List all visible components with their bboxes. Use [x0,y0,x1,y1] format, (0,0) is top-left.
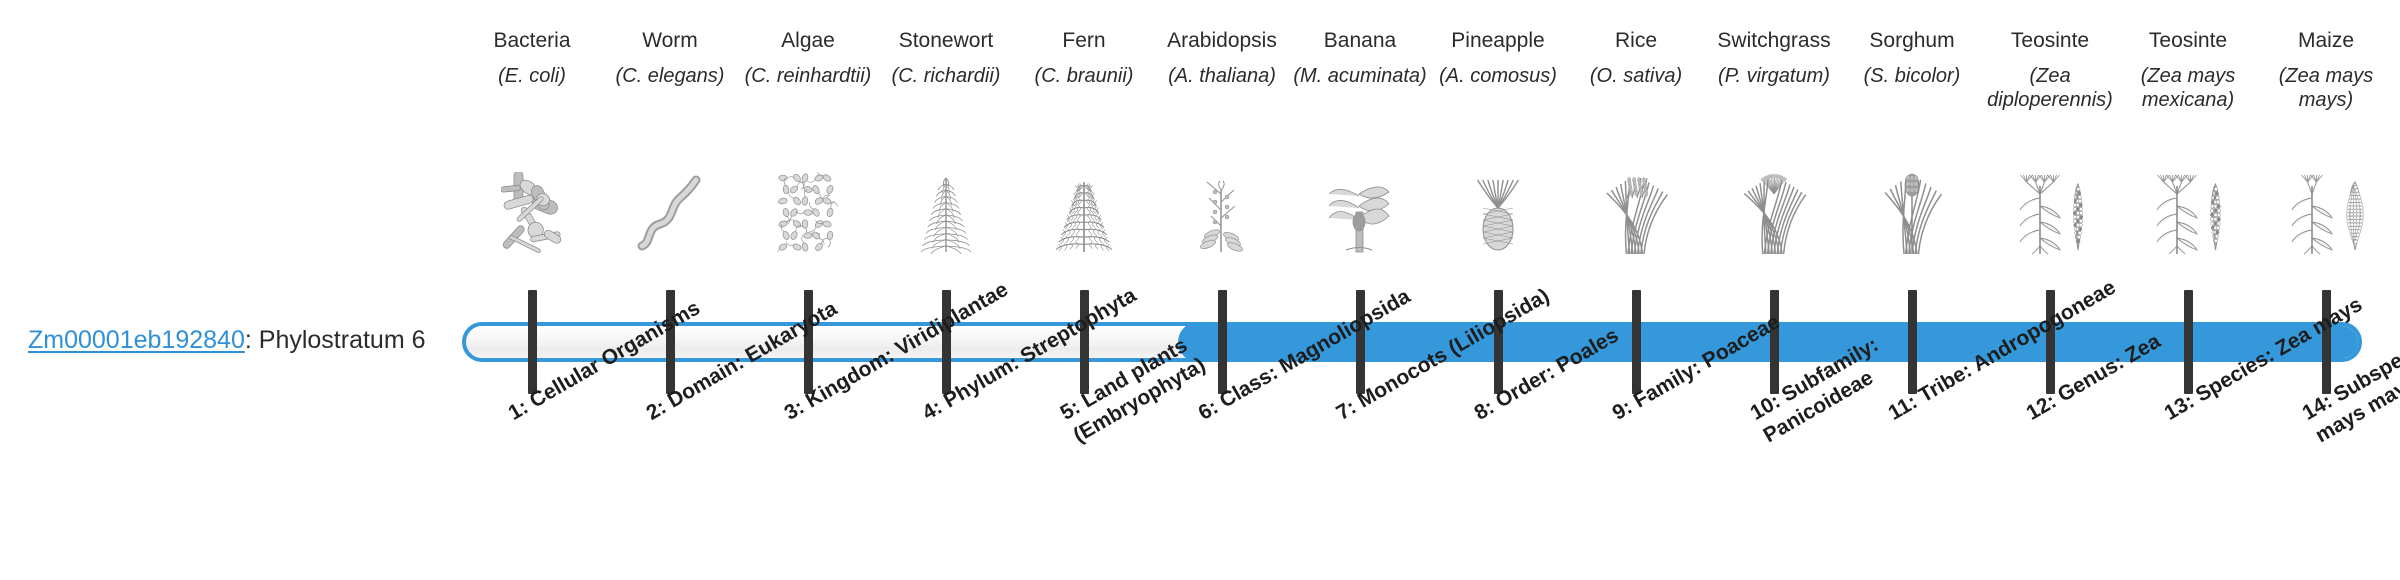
species-latin-name: (M. acuminata) [1291,64,1429,88]
worm-illustration [601,172,739,254]
species-column-pineapple-8: Pineapple(A. comosus) [1429,28,1567,88]
species-latin-name: (Zea diploperennis) [1981,64,2119,112]
pineapple-illustration [1429,172,1567,254]
maize-illustration [2257,172,2395,254]
species-column-teosinte-12: Teosinte(Zea diploperennis) [1981,28,2119,112]
phylostratum-text: Phylostratum 6 [259,326,426,354]
gene-id-link[interactable]: Zm00001eb192840 [28,326,245,354]
species-common-name: Bacteria [463,28,601,54]
species-column-bacteria-1: Bacteria(E. coli) [463,28,601,88]
species-common-name: Pineapple [1429,28,1567,54]
species-column-rice-9: Rice(O. sativa) [1567,28,1705,88]
species-common-name: Sorghum [1843,28,1981,54]
algae-illustration [739,172,877,254]
species-column-stonewort-4: Stonewort(C. richardii) [877,28,1015,88]
rice-illustration [1567,172,1705,254]
banana-illustration [1291,172,1429,254]
species-latin-name: (Zea mays mays) [2257,64,2395,112]
species-common-name: Worm [601,28,739,54]
species-column-worm-2: Worm(C. elegans) [601,28,739,88]
species-common-name: Fern [1015,28,1153,54]
arabidopsis-illustration [1153,172,1291,254]
species-latin-name: (A. comosus) [1429,64,1567,88]
species-column-fern-5: Fern(C. braunii) [1015,28,1153,88]
gene-label-separator: : [245,326,259,354]
species-common-name: Algae [739,28,877,54]
gene-phylostratum-label: Zm00001eb192840: Phylostratum 6 [28,325,426,355]
bacteria-illustration [463,172,601,254]
species-latin-name: (S. bicolor) [1843,64,1981,88]
species-common-name: Switchgrass [1705,28,1843,54]
species-latin-name: (C. braunii) [1015,64,1153,88]
species-latin-name: (C. elegans) [601,64,739,88]
phylostratigraphy-timeline: Zm00001eb192840: Phylostratum 6 Bacteria… [0,0,2400,580]
stonewort-illustration [877,172,1015,254]
fern-illustration [1015,172,1153,254]
species-latin-name: (Zea mays mexicana) [2119,64,2257,112]
species-common-name: Arabidopsis [1153,28,1291,54]
species-common-name: Teosinte [1981,28,2119,54]
species-column-banana-7: Banana(M. acuminata) [1291,28,1429,88]
species-latin-name: (A. thaliana) [1153,64,1291,88]
teosinte-diploperennis-illustration [1981,172,2119,254]
species-latin-name: (C. reinhardtii) [739,64,877,88]
species-column-sorghum-11: Sorghum(S. bicolor) [1843,28,1981,88]
species-latin-name: (P. virgatum) [1705,64,1843,88]
species-common-name: Stonewort [877,28,1015,54]
species-common-name: Rice [1567,28,1705,54]
species-latin-name: (O. sativa) [1567,64,1705,88]
sorghum-illustration [1843,172,1981,254]
species-common-name: Banana [1291,28,1429,54]
species-column-switchgrass-10: Switchgrass(P. virgatum) [1705,28,1843,88]
species-column-arabidopsis-6: Arabidopsis(A. thaliana) [1153,28,1291,88]
species-latin-name: (C. richardii) [877,64,1015,88]
switchgrass-illustration [1705,172,1843,254]
tick-mark-1[interactable] [528,290,537,394]
teosinte-mexicana-illustration [2119,172,2257,254]
species-column-algae-3: Algae(C. reinhardtii) [739,28,877,88]
species-common-name: Maize [2257,28,2395,54]
species-column-maize-14: Maize(Zea mays mays) [2257,28,2395,112]
species-latin-name: (E. coli) [463,64,601,88]
species-common-name: Teosinte [2119,28,2257,54]
species-column-teosinte-13: Teosinte(Zea mays mexicana) [2119,28,2257,112]
